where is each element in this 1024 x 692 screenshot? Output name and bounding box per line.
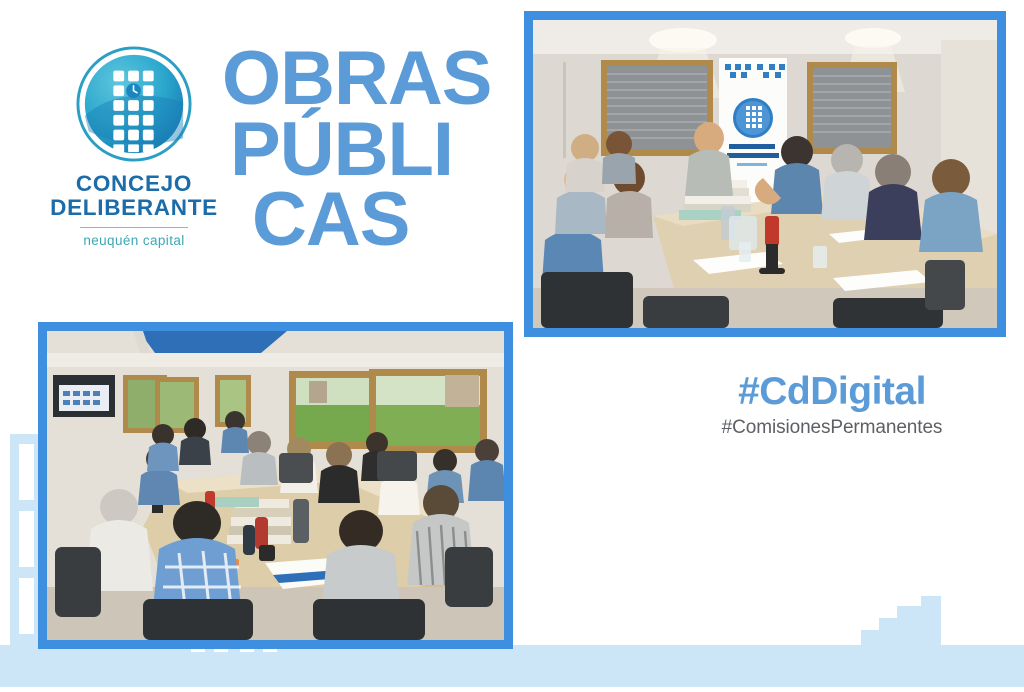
meeting-room-illustration	[533, 20, 997, 328]
title-line-obras: OBRAS	[222, 44, 491, 115]
photo-commission-meeting-wide	[38, 322, 513, 649]
title-line-cas: CAS	[222, 185, 491, 256]
logo-tagline: neuquén capital	[44, 233, 224, 248]
photo-image	[47, 331, 504, 640]
hashtag-cddigital: #CdDigital	[640, 372, 1024, 413]
wide-meeting-room-illustration	[47, 331, 504, 640]
logo-divider	[80, 227, 188, 229]
page-title: OBRAS PÚBLI CAS	[222, 44, 491, 256]
logo-line-deliberante: DELIBERANTE	[44, 196, 224, 220]
hashtag-comisionespermanentes: #ComisionesPermanentes	[640, 417, 1024, 439]
hashtag-block: #CdDigital #ComisionesPermanentes	[640, 372, 1024, 439]
concejo-deliberante-logo: CONCEJO DELIBERANTE neuquén capital	[44, 45, 224, 248]
logo-line-concejo: CONCEJO	[44, 172, 224, 196]
building-logo-icon	[75, 45, 193, 163]
photo-image	[533, 20, 997, 328]
title-line-publi: PÚBLI	[222, 115, 491, 186]
photo-commission-meeting-banner	[524, 11, 1006, 337]
logo-wordmark: CONCEJO DELIBERANTE neuquén capital	[44, 172, 224, 248]
